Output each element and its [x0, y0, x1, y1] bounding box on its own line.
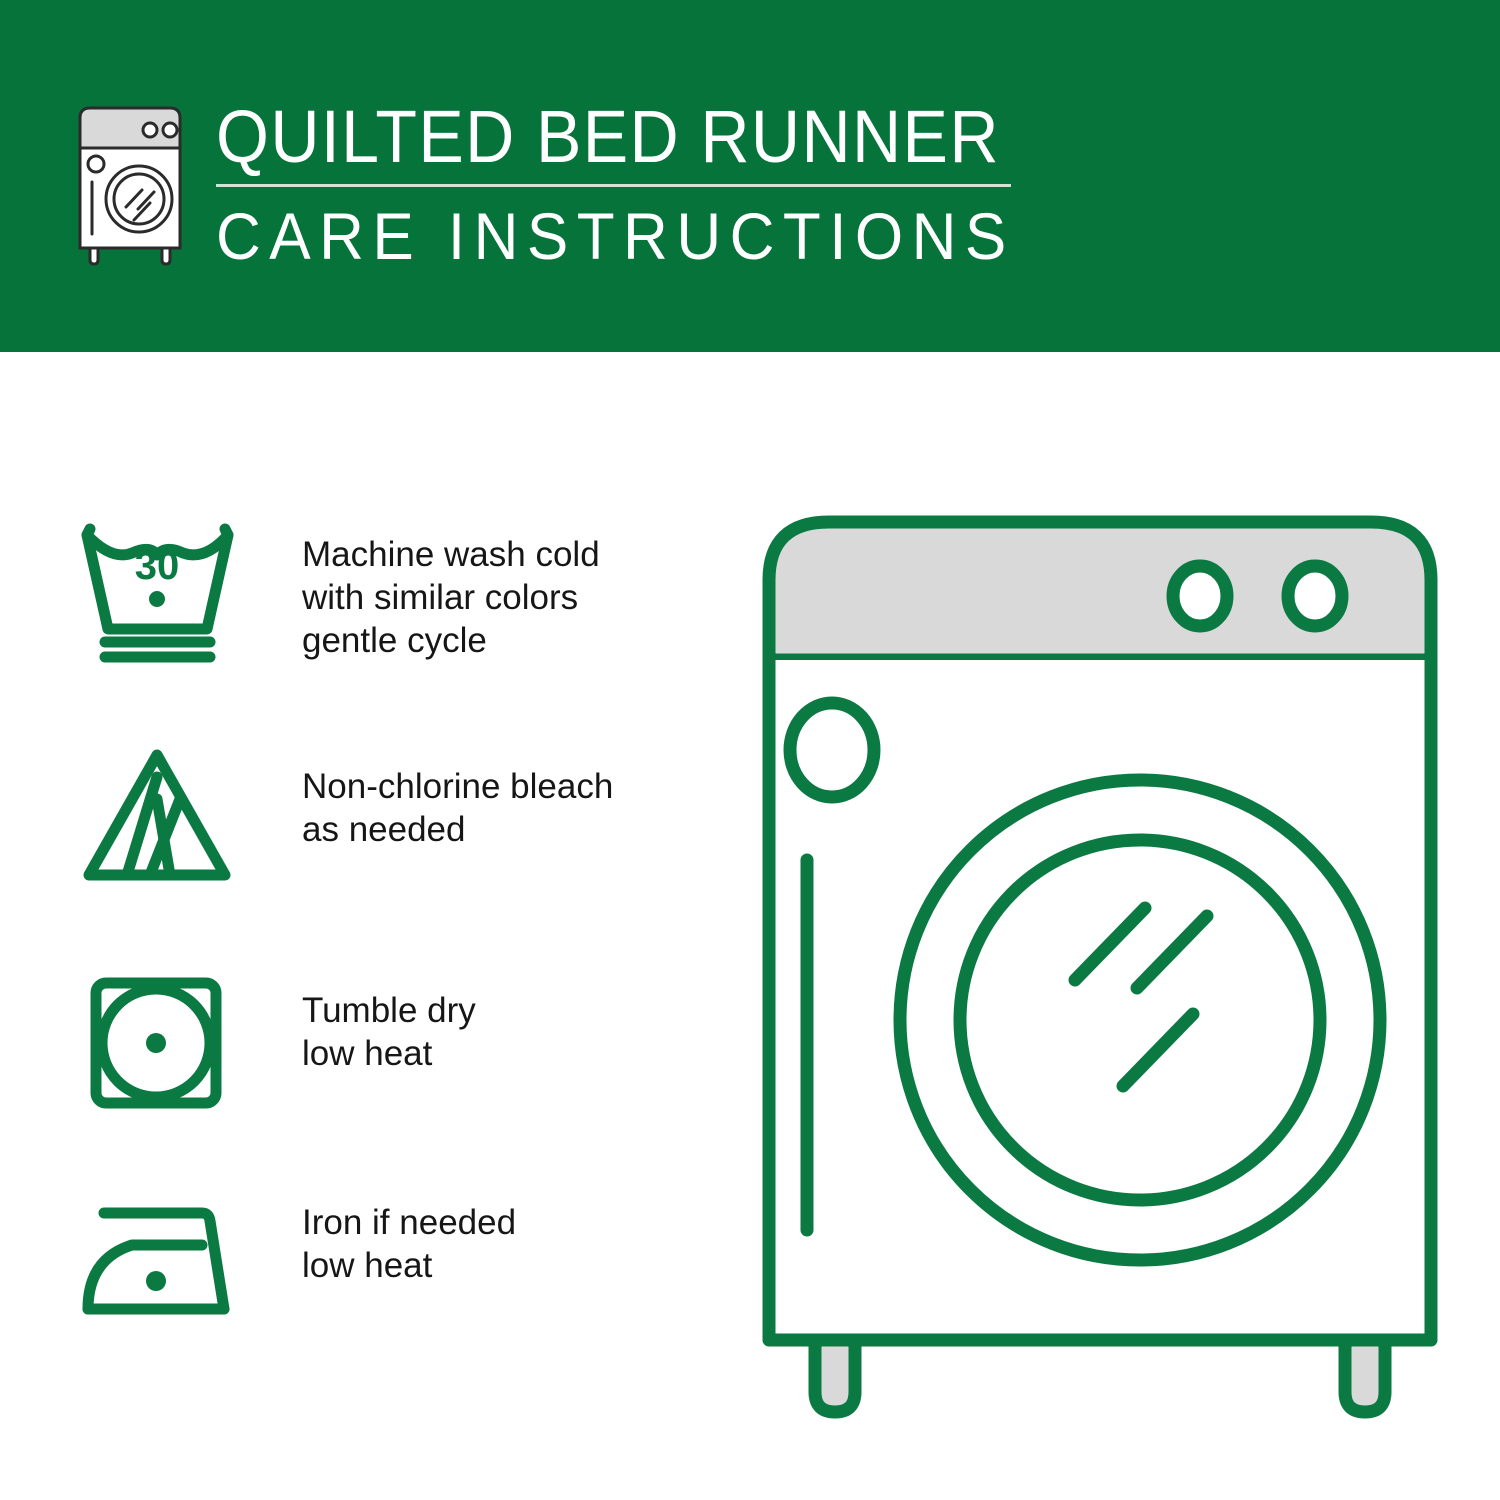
care-item-iron-label: Iron if needed low heat	[302, 1201, 516, 1287]
header-banner: QUILTED BED RUNNER CARE INSTRUCTIONS	[0, 0, 1500, 352]
care-text-line: with similar colors	[302, 576, 600, 619]
knob-left	[1173, 566, 1227, 626]
care-item-iron: Iron if needed low heat	[70, 1159, 670, 1377]
non-chlorine-bleach-triangle-icon	[70, 737, 245, 897]
care-text-line: Non-chlorine bleach	[302, 765, 613, 808]
care-item-bleach: Non-chlorine bleach as needed	[70, 723, 670, 941]
care-item-bleach-label: Non-chlorine bleach as needed	[302, 765, 613, 851]
page-title: QUILTED BED RUNNER	[216, 96, 952, 178]
tumble-dry-low-heat-icon	[70, 963, 245, 1123]
care-item-wash: 30 Machine wash cold with similar colors…	[70, 505, 670, 723]
care-item-tumble-dry: Tumble dry low heat	[70, 941, 670, 1159]
iron-low-heat-icon	[70, 1197, 245, 1357]
care-text-line: Machine wash cold	[302, 533, 600, 576]
care-text-line: gentle cycle	[302, 619, 600, 662]
care-text-line: low heat	[302, 1032, 476, 1075]
header-title-group: QUILTED BED RUNNER CARE INSTRUCTIONS	[216, 96, 1016, 273]
washing-machine-icon	[62, 104, 198, 266]
care-instruction-list: 30 Machine wash cold with similar colors…	[70, 505, 670, 1377]
title-divider	[216, 184, 1011, 187]
care-text-line: Tumble dry	[302, 989, 476, 1032]
leg-left	[815, 1340, 855, 1412]
care-text-line: as needed	[302, 808, 613, 851]
leg-right	[1345, 1340, 1385, 1412]
detergent-port	[790, 703, 874, 797]
wash-temperature-value: 30	[135, 544, 180, 588]
care-item-wash-label: Machine wash cold with similar colors ge…	[302, 533, 600, 662]
wash-tub-30-gentle-icon: 30	[70, 505, 245, 665]
page-subtitle: CARE INSTRUCTIONS	[216, 199, 968, 273]
knob-right	[1288, 566, 1342, 626]
care-item-tumble-dry-label: Tumble dry low heat	[302, 989, 476, 1075]
washing-machine-illustration	[745, 500, 1455, 1420]
care-text-line: low heat	[302, 1244, 516, 1287]
care-text-line: Iron if needed	[302, 1201, 516, 1244]
